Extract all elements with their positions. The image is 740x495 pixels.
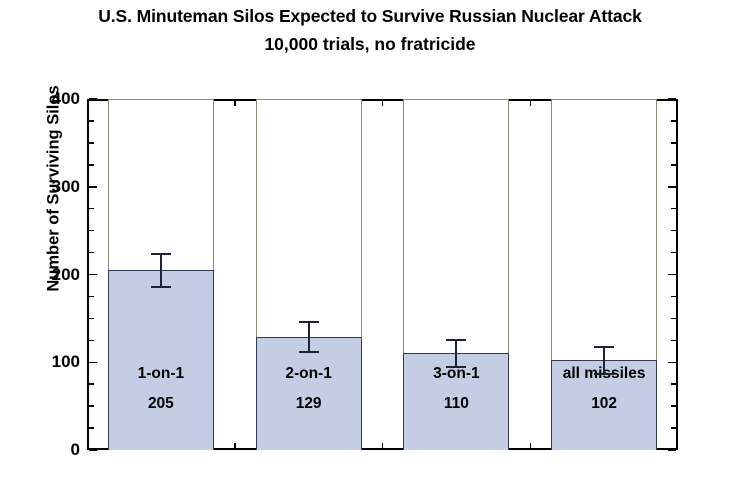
y-tick-right-225 — [671, 252, 676, 254]
y-tick-250 — [89, 230, 94, 232]
y-tick-right-150 — [671, 318, 676, 320]
bar-value-label: 102 — [552, 395, 656, 413]
error-bar-cap-upper — [594, 346, 614, 348]
chart-subtitle: 10,000 trials, no fratricide — [0, 32, 740, 56]
y-tick-right-250 — [671, 230, 676, 232]
x-tick-boundary-0 — [234, 443, 236, 448]
error-bar — [403, 339, 509, 369]
x-tick-boundary-1 — [382, 443, 384, 448]
error-bar-cap-upper — [151, 253, 171, 255]
bar-2-on-1: 2-on-1129 — [256, 337, 362, 450]
error-bar-cap-upper — [299, 321, 319, 323]
plot-area: 0100200300400 1-on-12052-on-11293-on-111… — [87, 99, 678, 450]
error-bar — [108, 253, 214, 288]
error-bar-stem — [308, 321, 310, 353]
chart-figure: U.S. Minuteman Silos Expected to Survive… — [0, 0, 740, 495]
y-tick-25 — [89, 427, 94, 429]
x-tick-top-boundary-0 — [234, 101, 236, 106]
axis-spine-right — [676, 99, 678, 450]
error-bar — [551, 346, 657, 376]
y-tick-right-50 — [671, 405, 676, 407]
error-bar-cap-lower — [151, 286, 171, 288]
error-bar-stem — [160, 253, 162, 288]
y-tick-right-275 — [671, 208, 676, 210]
y-tick-right-175 — [671, 296, 676, 298]
y-tick-right-300 — [668, 186, 676, 188]
chart-title: U.S. Minuteman Silos Expected to Survive… — [0, 4, 740, 28]
y-tick-300 — [89, 186, 97, 188]
y-tick-label-100: 100 — [52, 352, 80, 372]
y-tick-label-400: 400 — [52, 89, 80, 109]
y-tick-label-300: 300 — [52, 177, 80, 197]
y-tick-right-325 — [671, 164, 676, 166]
bar-value-label: 129 — [257, 395, 361, 413]
y-tick-400 — [89, 98, 97, 100]
y-tick-50 — [89, 405, 94, 407]
y-tick-right-125 — [671, 340, 676, 342]
error-bar-cap-lower — [446, 366, 466, 368]
x-tick-boundary-2 — [530, 443, 532, 448]
y-tick-right-400 — [668, 98, 676, 100]
y-tick-right-350 — [671, 142, 676, 144]
y-tick-200 — [89, 274, 97, 276]
error-bar-cap-lower — [299, 351, 319, 353]
error-bar-stem — [455, 339, 457, 369]
bar-1-on-1: 1-on-1205 — [108, 270, 214, 450]
bar-category-label: 2-on-1 — [257, 365, 361, 383]
bar-value-label: 110 — [404, 395, 508, 413]
error-bar-cap-lower — [594, 373, 614, 375]
y-tick-label-200: 200 — [52, 265, 80, 285]
y-tick-75 — [89, 383, 94, 385]
y-tick-right-25 — [671, 427, 676, 429]
y-tick-right-100 — [668, 362, 676, 364]
y-tick-0 — [89, 449, 97, 451]
y-tick-225 — [89, 252, 94, 254]
y-tick-175 — [89, 296, 94, 298]
error-bar-cap-upper — [446, 339, 466, 341]
error-bar-stem — [603, 346, 605, 376]
y-tick-right-375 — [671, 120, 676, 122]
x-tick-top-boundary-1 — [382, 101, 384, 106]
bar-category-label: 1-on-1 — [109, 365, 213, 383]
y-tick-right-200 — [668, 274, 676, 276]
y-tick-right-75 — [671, 383, 676, 385]
chart-title-block: U.S. Minuteman Silos Expected to Survive… — [0, 4, 740, 56]
y-tick-100 — [89, 362, 97, 364]
y-tick-325 — [89, 164, 94, 166]
y-tick-label-0: 0 — [71, 440, 80, 460]
y-tick-375 — [89, 120, 94, 122]
bar-value-label: 205 — [109, 395, 213, 413]
y-tick-125 — [89, 340, 94, 342]
y-tick-150 — [89, 318, 94, 320]
x-tick-top-boundary-2 — [530, 101, 532, 106]
y-tick-275 — [89, 208, 94, 210]
y-tick-350 — [89, 142, 94, 144]
error-bar — [256, 321, 362, 353]
y-tick-right-0 — [668, 449, 676, 451]
